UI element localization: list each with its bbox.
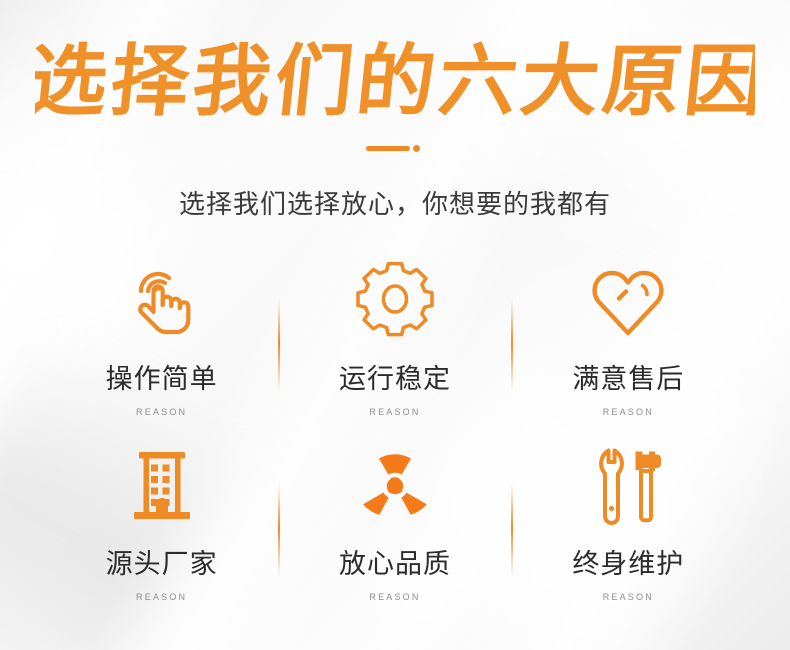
column-divider [278,482,280,578]
reason-card-factory[interactable]: 源头厂家 REASON [45,440,278,625]
reason-label: 操作简单 [106,357,218,396]
title-divider [0,140,790,158]
reason-sublabel: REASON [603,407,654,417]
page-title-text: 选择我们的六大原因 [35,36,755,127]
divider-bar [366,146,410,151]
reason-label: 终身维护 [572,542,684,581]
factory-icon [122,444,202,528]
column-divider [511,482,513,578]
column-divider [278,297,280,393]
gear-icon [355,259,435,343]
heart-icon [586,259,670,343]
wrench-hammer-icon [583,444,673,528]
page-header: 选择我们的六大原因 选择我们选择放心，你想要的我都有 [0,0,790,221]
column-divider [511,297,513,393]
reason-card-aftersales[interactable]: 满意售后 REASON [512,255,745,440]
reason-sublabel: REASON [136,407,187,417]
reason-label: 运行稳定 [339,357,451,396]
reason-label: 放心品质 [339,542,451,581]
hand-tap-icon [122,259,202,343]
reason-label: 满意售后 [572,357,684,396]
reason-sublabel: REASON [603,592,654,602]
radiation-icon [353,444,437,528]
page-title: 选择我们的六大原因 [0,34,790,130]
reason-sublabel: REASON [136,592,187,602]
reason-card-operation[interactable]: 操作简单 REASON [45,255,278,440]
reason-card-maintenance[interactable]: 终身维护 REASON [512,440,745,625]
reasons-grid: 操作简单 REASON 运行稳定 REASON [45,255,745,625]
reason-card-quality[interactable]: 放心品质 REASON [278,440,511,625]
reason-sublabel: REASON [369,407,420,417]
reason-card-stability[interactable]: 运行稳定 REASON [278,255,511,440]
promo-page: 选择我们的六大原因 选择我们选择放心，你想要的我都有 [0,0,790,650]
reason-label: 源头厂家 [106,542,218,581]
divider-dot [413,145,420,152]
page-subtitle: 选择我们选择放心，你想要的我都有 [0,184,790,221]
reason-sublabel: REASON [369,592,420,602]
